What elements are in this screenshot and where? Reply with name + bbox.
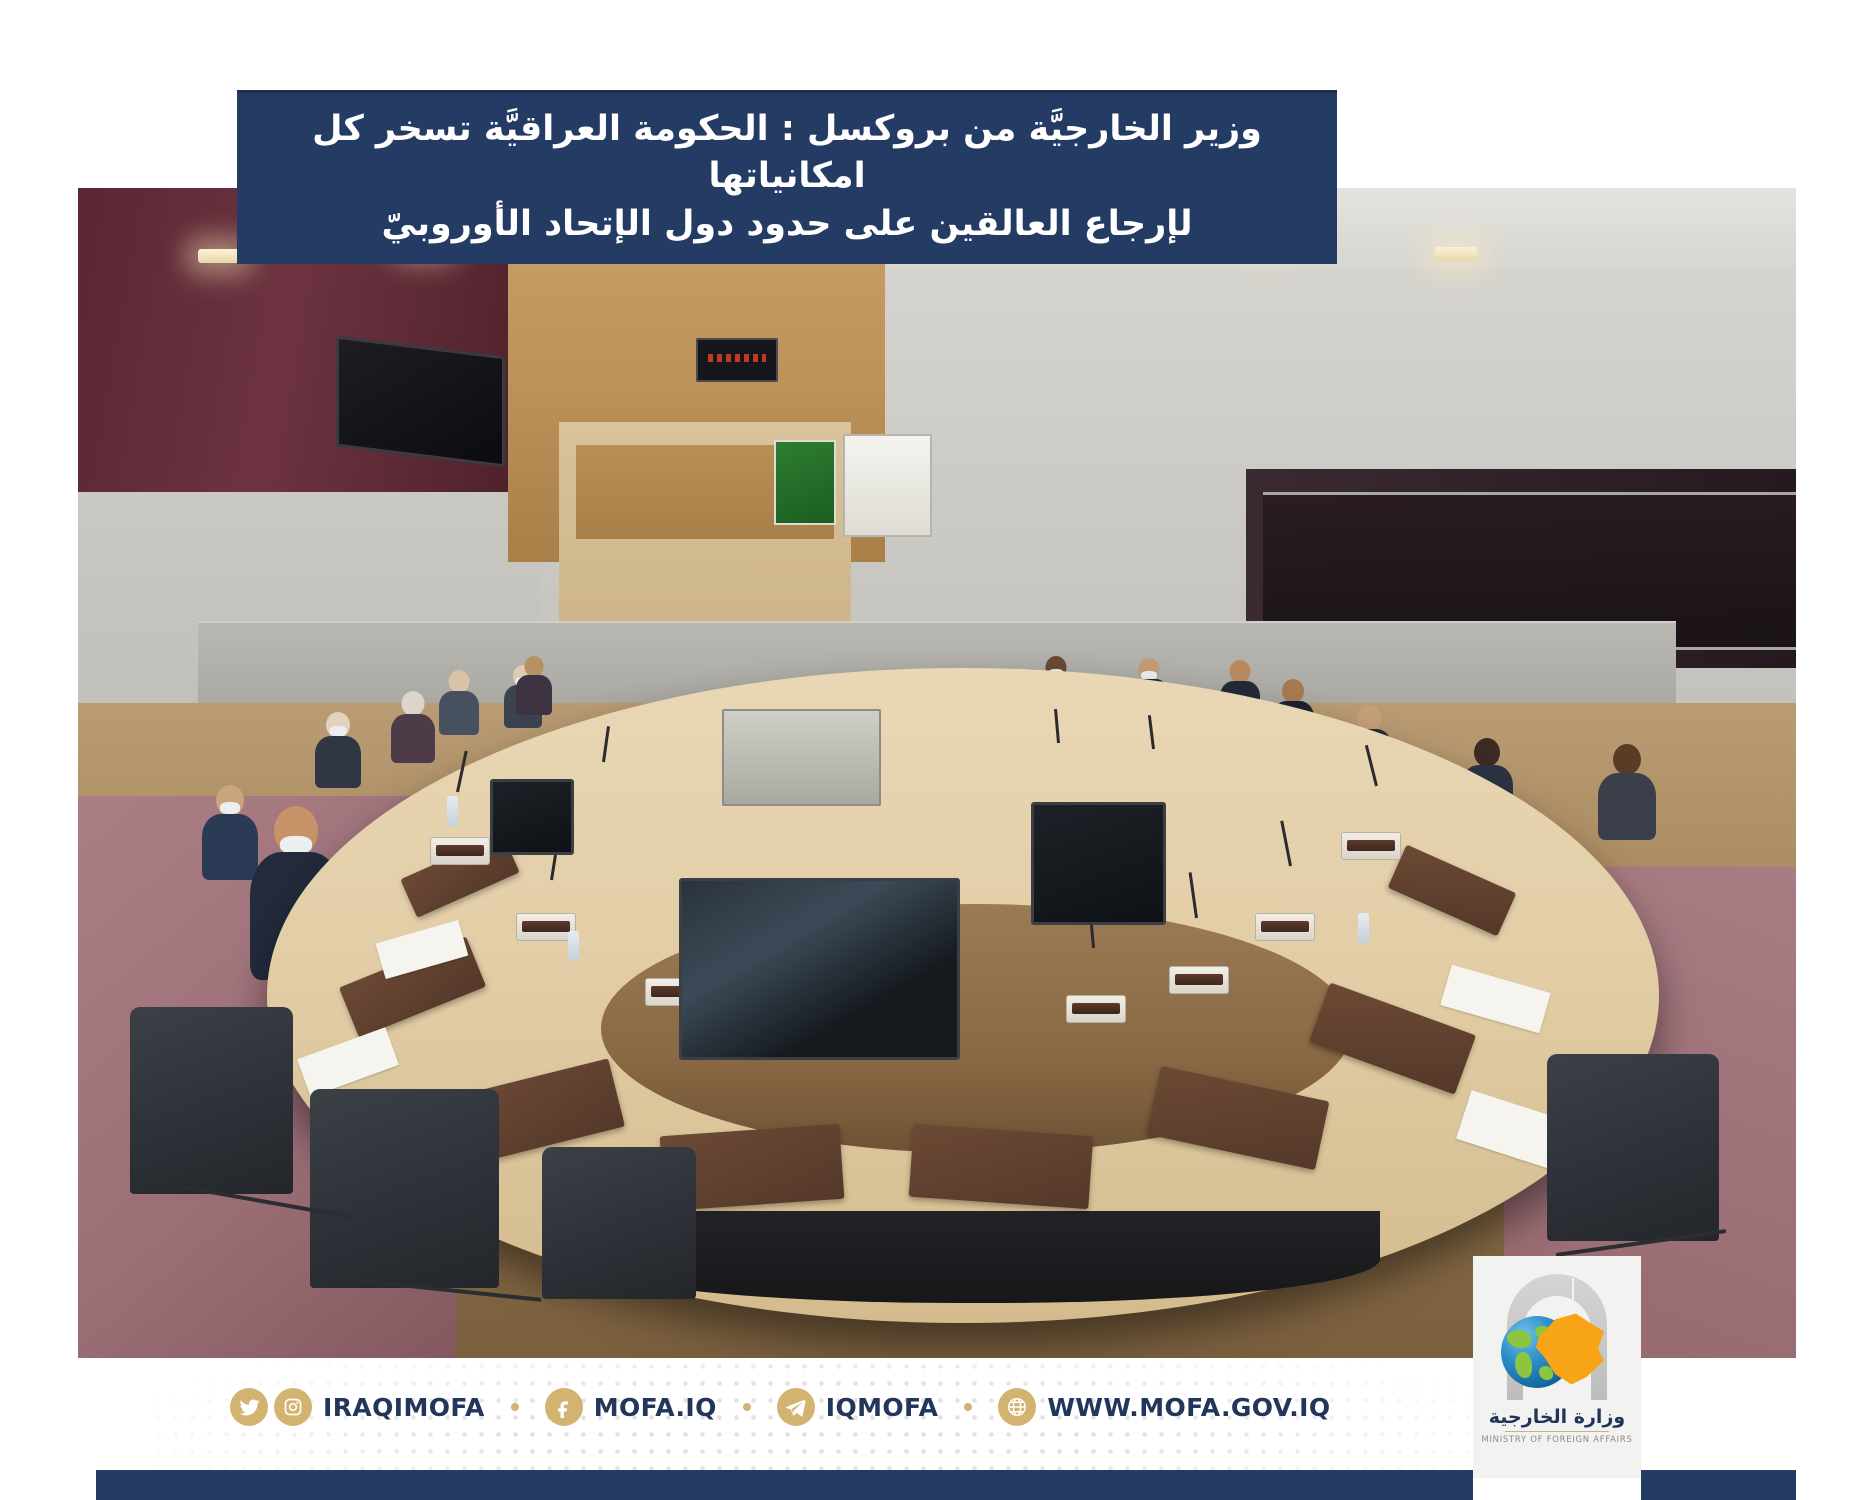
logo-english-name: MINISTRY OF FOREIGN AFFAIRS bbox=[1481, 1435, 1632, 1445]
instagram-icon[interactable] bbox=[274, 1388, 312, 1426]
water-bottle bbox=[568, 931, 579, 961]
separator-dot bbox=[511, 1403, 519, 1411]
mic-console bbox=[1255, 913, 1315, 941]
office-chair bbox=[542, 1147, 697, 1299]
office-chair bbox=[130, 1007, 293, 1194]
mic-console bbox=[430, 837, 490, 865]
separator-dot bbox=[964, 1403, 972, 1411]
delegate-person bbox=[315, 712, 361, 786]
icon-pair bbox=[230, 1388, 312, 1426]
table-display-monitor bbox=[1031, 802, 1166, 925]
ceiling-lamp bbox=[1435, 247, 1477, 261]
center-equipment-box bbox=[722, 709, 881, 807]
water-bottle bbox=[1358, 913, 1369, 943]
delegate-person bbox=[516, 656, 552, 714]
twitter-icon[interactable] bbox=[230, 1388, 268, 1426]
mic-console bbox=[1341, 832, 1401, 860]
delegate-person bbox=[391, 691, 435, 761]
wall-monitor bbox=[336, 336, 505, 468]
telegram-icon[interactable] bbox=[777, 1388, 815, 1426]
mic-console bbox=[1169, 966, 1229, 994]
photo-scene bbox=[78, 188, 1796, 1358]
social-handle-facebook: MOFA.IQ bbox=[594, 1393, 717, 1422]
social-handle-telegram: IQMOFA bbox=[826, 1393, 939, 1422]
ceiling-lamp bbox=[198, 249, 240, 263]
facebook-icon[interactable] bbox=[545, 1388, 583, 1426]
office-chair bbox=[1547, 1054, 1719, 1241]
table-display-monitor bbox=[490, 779, 573, 855]
flipchart-board bbox=[843, 434, 933, 537]
headline-banner: وزير الخارجيَّة من بروكسل : الحكومة العر… bbox=[237, 90, 1337, 264]
logo-artwork bbox=[1491, 1272, 1623, 1404]
office-chair bbox=[310, 1089, 499, 1288]
headline-line-1: وزير الخارجيَّة من بروكسل : الحكومة العر… bbox=[263, 106, 1311, 201]
social-item-website[interactable]: WWW.MOFA.GOV.IQ bbox=[998, 1388, 1330, 1426]
delegate-person bbox=[1598, 744, 1656, 838]
headline-line-2: لإرجاع العالقين على حدود دول الإتحاد الأ… bbox=[263, 201, 1311, 248]
led-clock-display bbox=[696, 338, 777, 382]
table-display-monitor bbox=[679, 878, 960, 1060]
social-item-twitter-instagram[interactable]: IRAQIMOFA bbox=[230, 1388, 485, 1426]
arch-seam bbox=[1572, 1278, 1574, 1314]
social-item-facebook[interactable]: MOFA.IQ bbox=[545, 1388, 717, 1426]
desk-pad bbox=[909, 1124, 1094, 1209]
news-photo bbox=[78, 188, 1796, 1358]
logo-divider bbox=[1505, 1431, 1609, 1432]
separator-dot bbox=[743, 1403, 751, 1411]
bottom-accent-bar-left bbox=[96, 1470, 1473, 1500]
mic-console bbox=[1066, 995, 1126, 1023]
social-handle-twitter-instagram: IRAQIMOFA bbox=[323, 1393, 485, 1422]
wifi-poster bbox=[774, 440, 836, 526]
social-handle-website: WWW.MOFA.GOV.IQ bbox=[1047, 1393, 1330, 1422]
logo-arabic-name: وزارة الخارجية bbox=[1489, 1406, 1625, 1428]
delegate-person bbox=[439, 670, 479, 734]
globe-icon[interactable] bbox=[998, 1388, 1036, 1426]
social-item-telegram[interactable]: IQMOFA bbox=[777, 1388, 939, 1426]
water-bottle bbox=[447, 796, 458, 826]
social-links-row: IRAQIMOFA MOFA.IQ IQMOFA bbox=[230, 1380, 1331, 1434]
bottom-accent-bar-right bbox=[1641, 1470, 1796, 1500]
ministry-logo: وزارة الخارجية MINISTRY OF FOREIGN AFFAI… bbox=[1473, 1256, 1641, 1478]
